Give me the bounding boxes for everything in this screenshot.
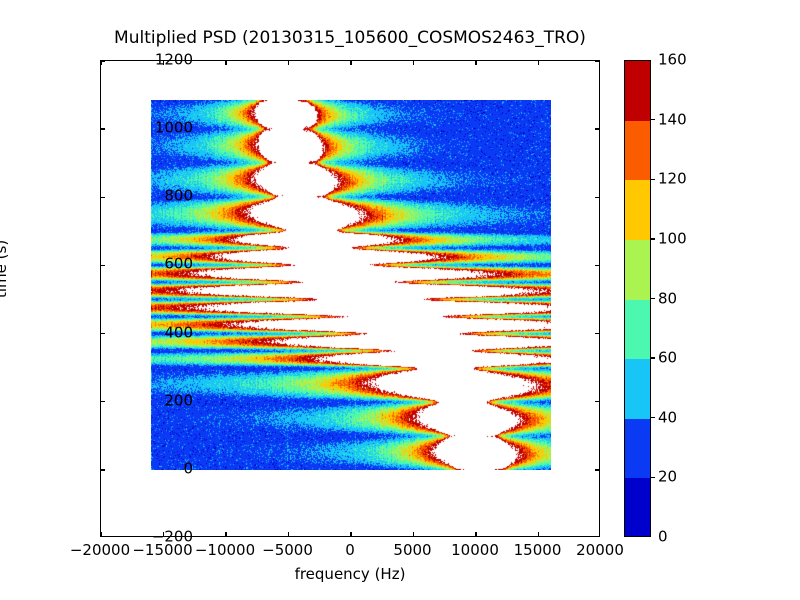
x-tick-mark <box>413 532 414 536</box>
colorbar-tick-mark <box>651 477 655 478</box>
x-tick-label: 15000 <box>514 543 562 558</box>
figure-canvas: Multiplied PSD (20130315_105600_COSMOS24… <box>0 0 800 600</box>
y-tick-label: 0 <box>183 461 193 476</box>
colorbar-tick-mark <box>651 357 655 358</box>
colorbar-tick-mark <box>651 417 655 418</box>
x-tick-label: −15000 <box>132 543 192 558</box>
x-tick-mark-top <box>538 61 539 65</box>
spectrogram-image <box>151 100 551 470</box>
x-tick-label: 20000 <box>576 543 624 558</box>
colorbar-band <box>625 419 650 479</box>
colorbar-tick-label: 80 <box>658 291 677 306</box>
y-tick-mark <box>101 401 105 402</box>
y-tick-mark-right <box>595 197 599 198</box>
colorbar-tick-label: 140 <box>658 112 687 127</box>
x-tick-label: 10000 <box>451 543 499 558</box>
x-axis-label: frequency (Hz) <box>100 565 600 583</box>
colorbar-tick-mark <box>651 298 655 299</box>
y-tick-mark-right <box>595 333 599 334</box>
colorbar-tick-label: 60 <box>658 351 677 366</box>
y-tick-mark <box>101 469 105 470</box>
colorbar-tick-label: 40 <box>658 410 677 425</box>
y-tick-label: 600 <box>164 257 193 272</box>
y-tick-mark-right <box>595 469 599 470</box>
y-tick-label: 200 <box>164 393 193 408</box>
colorbar-band <box>625 478 650 537</box>
y-tick-label: 400 <box>164 325 193 340</box>
colorbar-tick-mark <box>651 179 655 180</box>
colorbar[interactable] <box>624 60 651 537</box>
colorbar-band <box>625 61 650 121</box>
colorbar-band <box>625 121 650 181</box>
x-tick-mark-top <box>288 61 289 65</box>
colorbar-tick-label: 100 <box>658 231 687 246</box>
colorbar-band <box>625 180 650 240</box>
x-tick-mark <box>475 532 476 536</box>
x-tick-mark <box>288 532 289 536</box>
x-tick-label: 5000 <box>393 543 431 558</box>
colorbar-tick-mark <box>651 238 655 239</box>
y-tick-mark-right <box>595 401 599 402</box>
x-tick-label: 0 <box>345 543 355 558</box>
x-tick-mark <box>100 532 101 536</box>
x-tick-label: −5000 <box>262 543 313 558</box>
x-tick-mark-top <box>225 61 226 65</box>
x-tick-label: −20000 <box>70 543 130 558</box>
x-tick-mark <box>350 532 351 536</box>
y-tick-mark-right <box>595 265 599 266</box>
colorbar-band <box>625 300 650 360</box>
colorbar-tick-label: 0 <box>658 530 668 545</box>
x-tick-mark-top <box>100 61 101 65</box>
x-tick-mark <box>538 532 539 536</box>
y-tick-label: 1200 <box>155 53 193 68</box>
colorbar-band <box>625 240 650 300</box>
y-tick-label: 1000 <box>155 121 193 136</box>
y-axis-label: time (s) <box>0 240 10 298</box>
x-tick-mark-top <box>475 61 476 65</box>
colorbar-tick-mark <box>651 119 655 120</box>
x-tick-mark <box>225 532 226 536</box>
colorbar-tick-label: 120 <box>658 172 687 187</box>
y-tick-mark <box>101 333 105 334</box>
colorbar-tick-label: 20 <box>658 470 677 485</box>
y-tick-mark <box>101 128 105 129</box>
y-tick-mark-right <box>595 60 599 61</box>
x-tick-mark-top <box>350 61 351 65</box>
colorbar-tick-label: 160 <box>658 53 687 68</box>
x-tick-label: −10000 <box>195 543 255 558</box>
y-tick-mark <box>101 197 105 198</box>
y-tick-mark-right <box>595 128 599 129</box>
x-tick-mark-top <box>413 61 414 65</box>
colorbar-band <box>625 359 650 419</box>
page-title: Multiplied PSD (20130315_105600_COSMOS24… <box>0 28 700 48</box>
y-tick-label: 800 <box>164 189 193 204</box>
y-tick-mark <box>101 265 105 266</box>
